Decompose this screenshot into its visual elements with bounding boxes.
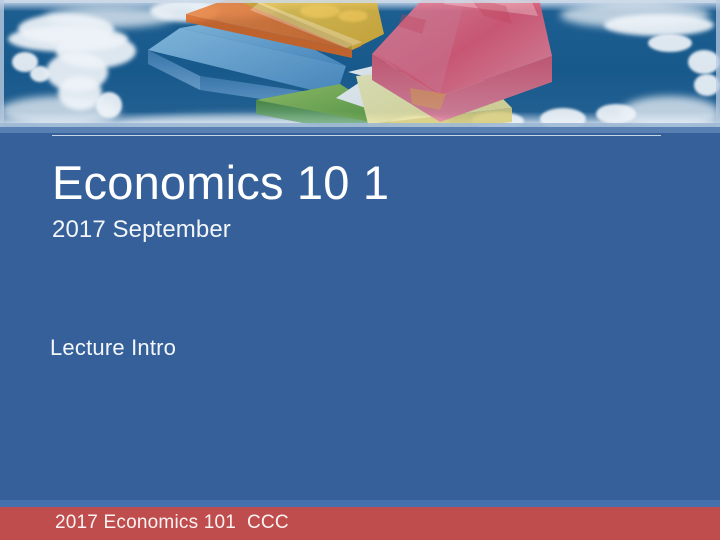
presentation-slide: Economics 10 1 2017 September Lecture In… bbox=[0, 0, 720, 540]
page-subtitle: 2017 September bbox=[52, 216, 692, 244]
title-block: Economics 10 1 2017 September bbox=[52, 158, 692, 244]
header-underband bbox=[0, 127, 720, 133]
banner-right-rule bbox=[716, 0, 720, 127]
banner-top-rule bbox=[0, 0, 720, 3]
footer-text: 2017 Economics 101 CCC bbox=[55, 512, 289, 534]
page-title: Economics 10 1 bbox=[52, 158, 692, 208]
slide-body-text: Lecture Intro bbox=[50, 335, 176, 361]
pie-chart-3d-icon bbox=[140, 0, 580, 127]
header-banner-image bbox=[0, 0, 720, 127]
banner-left-rule bbox=[0, 0, 4, 127]
footer-accent-bar bbox=[0, 500, 720, 507]
title-divider-rule bbox=[52, 135, 661, 136]
